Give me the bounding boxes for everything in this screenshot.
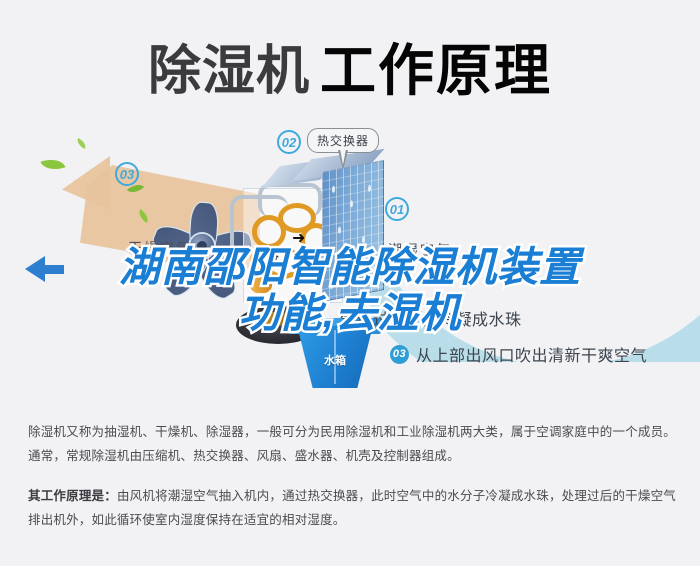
callout-pointer-icon	[338, 150, 348, 170]
watermark-text-stroke: 湖南邵阳智能除湿机装置 功能,去湿机	[0, 245, 700, 337]
step-03-badge: 03	[390, 345, 409, 364]
leaf-icon	[41, 155, 66, 174]
page-root: 除湿机工作原理	[0, 0, 700, 566]
paragraph-2-lead: 其工作原理是：	[28, 489, 117, 503]
badge-03: 03	[115, 162, 139, 186]
title-part-gray: 除湿机	[148, 42, 310, 101]
page-title: 除湿机工作原理	[0, 26, 700, 107]
paragraph-1: 除湿机又称为抽湿机、干燥机、除湿器，一般可分为民用除湿机和工业除湿机两大类，属于…	[28, 420, 676, 469]
step-03-description: 从上部出风口吹出清新干爽空气	[416, 342, 647, 366]
article-body: 除湿机又称为抽湿机、干燥机、除湿器，一般可分为民用除湿机和工业除湿机两大类，属于…	[28, 420, 676, 533]
paragraph-2: 其工作原理是：由风机将潮湿空气抽入机内，通过热交换器，此时空气中的水分子冷凝成水…	[28, 484, 676, 533]
badge-01: 01	[385, 197, 409, 221]
water-tank-label: 水箱	[292, 352, 378, 368]
paragraph-2-rest: 由风机将潮湿空气抽入机内，通过热交换器，此时空气中的水分子冷凝成水珠，处理过后的…	[28, 489, 676, 527]
badge-02: 02	[277, 130, 301, 154]
step-03-row: 03 从上部出风口吹出清新干爽空气	[390, 342, 647, 366]
leaf-icon	[75, 138, 88, 149]
title-part-black: 工作原理	[320, 39, 552, 102]
